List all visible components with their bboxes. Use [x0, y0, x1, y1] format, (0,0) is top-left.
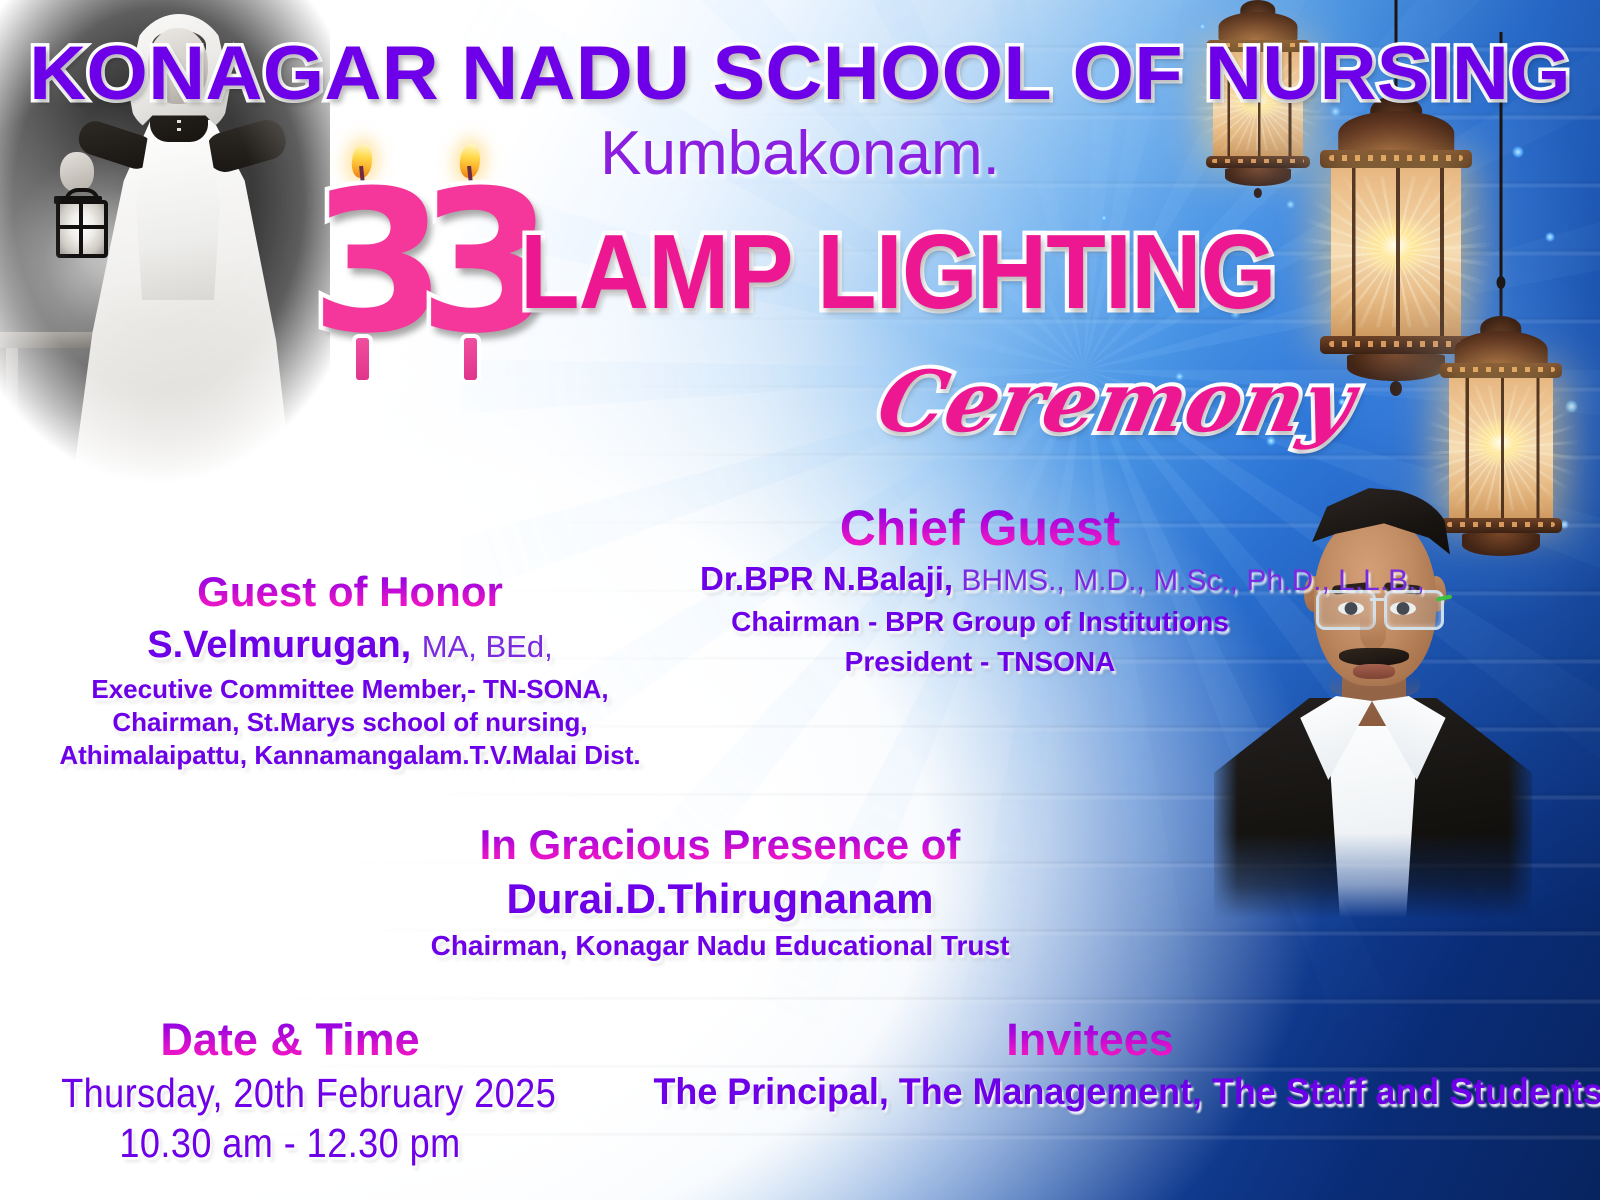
photo-table-leg	[6, 348, 18, 438]
guest-of-honor-role-2: Chairman, St.Marys school of nursing,	[40, 706, 660, 739]
event-title: LAMP LIGHTING	[520, 212, 1276, 333]
oil-lamp-icon	[52, 190, 104, 256]
chief-guest-heading: Chief Guest	[700, 498, 1260, 558]
gracious-presence-role: Chairman, Konagar Nadu Educational Trust	[380, 926, 1060, 966]
page-title: KONAGAR NADU SCHOOL OF NURSING	[0, 30, 1600, 117]
guest-of-honor-role-1: Executive Committee Member,- TN-SONA,	[40, 673, 660, 706]
chief-guest-block: Chief Guest Dr.BPR N.Balaji, BHMS., M.D.…	[700, 498, 1260, 682]
lantern-rim-dots	[1447, 367, 1554, 372]
guest-of-honor-name: S.Velmurugan,	[147, 624, 411, 666]
gracious-presence-name: Durai.D.Thirugnanam	[380, 872, 1060, 926]
gracious-presence-block: In Gracious Presence of Durai.D.Thirugna…	[380, 818, 1060, 966]
city-subtitle: Kumbakonam.	[0, 118, 1600, 189]
invitees-heading: Invitees	[640, 1012, 1540, 1068]
guest-of-honor-block: Guest of Honor S.Velmurugan, MA, BEd, Ex…	[40, 565, 660, 772]
invitation-poster: KONAGAR NADU SCHOOL OF NURSING Kumbakona…	[0, 0, 1600, 1200]
guest-of-honor-role-3: Athimalaipattu, Kannamangalam.T.V.Malai …	[40, 739, 660, 772]
candle-stick	[356, 338, 369, 380]
event-subtitle: Ceremony	[869, 352, 1363, 451]
date-time-heading: Date & Time	[30, 1012, 550, 1068]
invitees-block: Invitees The Principal, The Management, …	[640, 1012, 1540, 1116]
lantern-finial	[1254, 188, 1262, 198]
lantern-finial	[1390, 381, 1402, 396]
guest-chin	[1330, 674, 1420, 700]
photo-table	[0, 332, 106, 348]
gracious-presence-heading: In Gracious Presence of	[380, 818, 1060, 872]
lantern-top-rim	[1440, 363, 1562, 378]
lamp-body	[56, 200, 108, 258]
number-candle-icon: 3	[310, 142, 414, 380]
date-time-block: Date & Time Thursday, 20th February 2025…	[30, 1012, 550, 1168]
event-time: 10.30 am - 12.30 pm	[61, 1118, 519, 1168]
chief-guest-qualifications: BHMS., M.D., M.Sc., Ph.D., L.L.B.,	[961, 564, 1424, 597]
guest-of-honor-heading: Guest of Honor	[40, 565, 660, 619]
candle-stick	[464, 338, 477, 380]
chief-guest-role-1: Chairman - BPR Group of Institutions	[700, 602, 1260, 642]
lantern-cord-knob	[1497, 276, 1506, 289]
glasses-bridge	[1370, 598, 1384, 601]
lantern-glass	[1331, 168, 1462, 336]
invitees-list: The Principal, The Management, The Staff…	[654, 1068, 1527, 1116]
guest-of-honor-name-line: S.Velmurugan, MA, BEd,	[40, 619, 660, 673]
chief-guest-role-2: President - TNSONA	[700, 642, 1260, 682]
event-date: Thursday, 20th February 2025	[61, 1068, 519, 1118]
lantern-bars	[1331, 168, 1462, 336]
edition-number-candles: 3 3	[310, 142, 525, 380]
chief-guest-name-line: Dr.BPR N.Balaji, BHMS., M.D., M.Sc., Ph.…	[700, 558, 1260, 602]
guest-nose	[1360, 616, 1386, 650]
chief-guest-name: Dr.BPR N.Balaji,	[700, 560, 953, 597]
guest-of-honor-qualifications: MA, BEd,	[422, 629, 553, 664]
number-candle-icon: 3	[418, 142, 522, 380]
